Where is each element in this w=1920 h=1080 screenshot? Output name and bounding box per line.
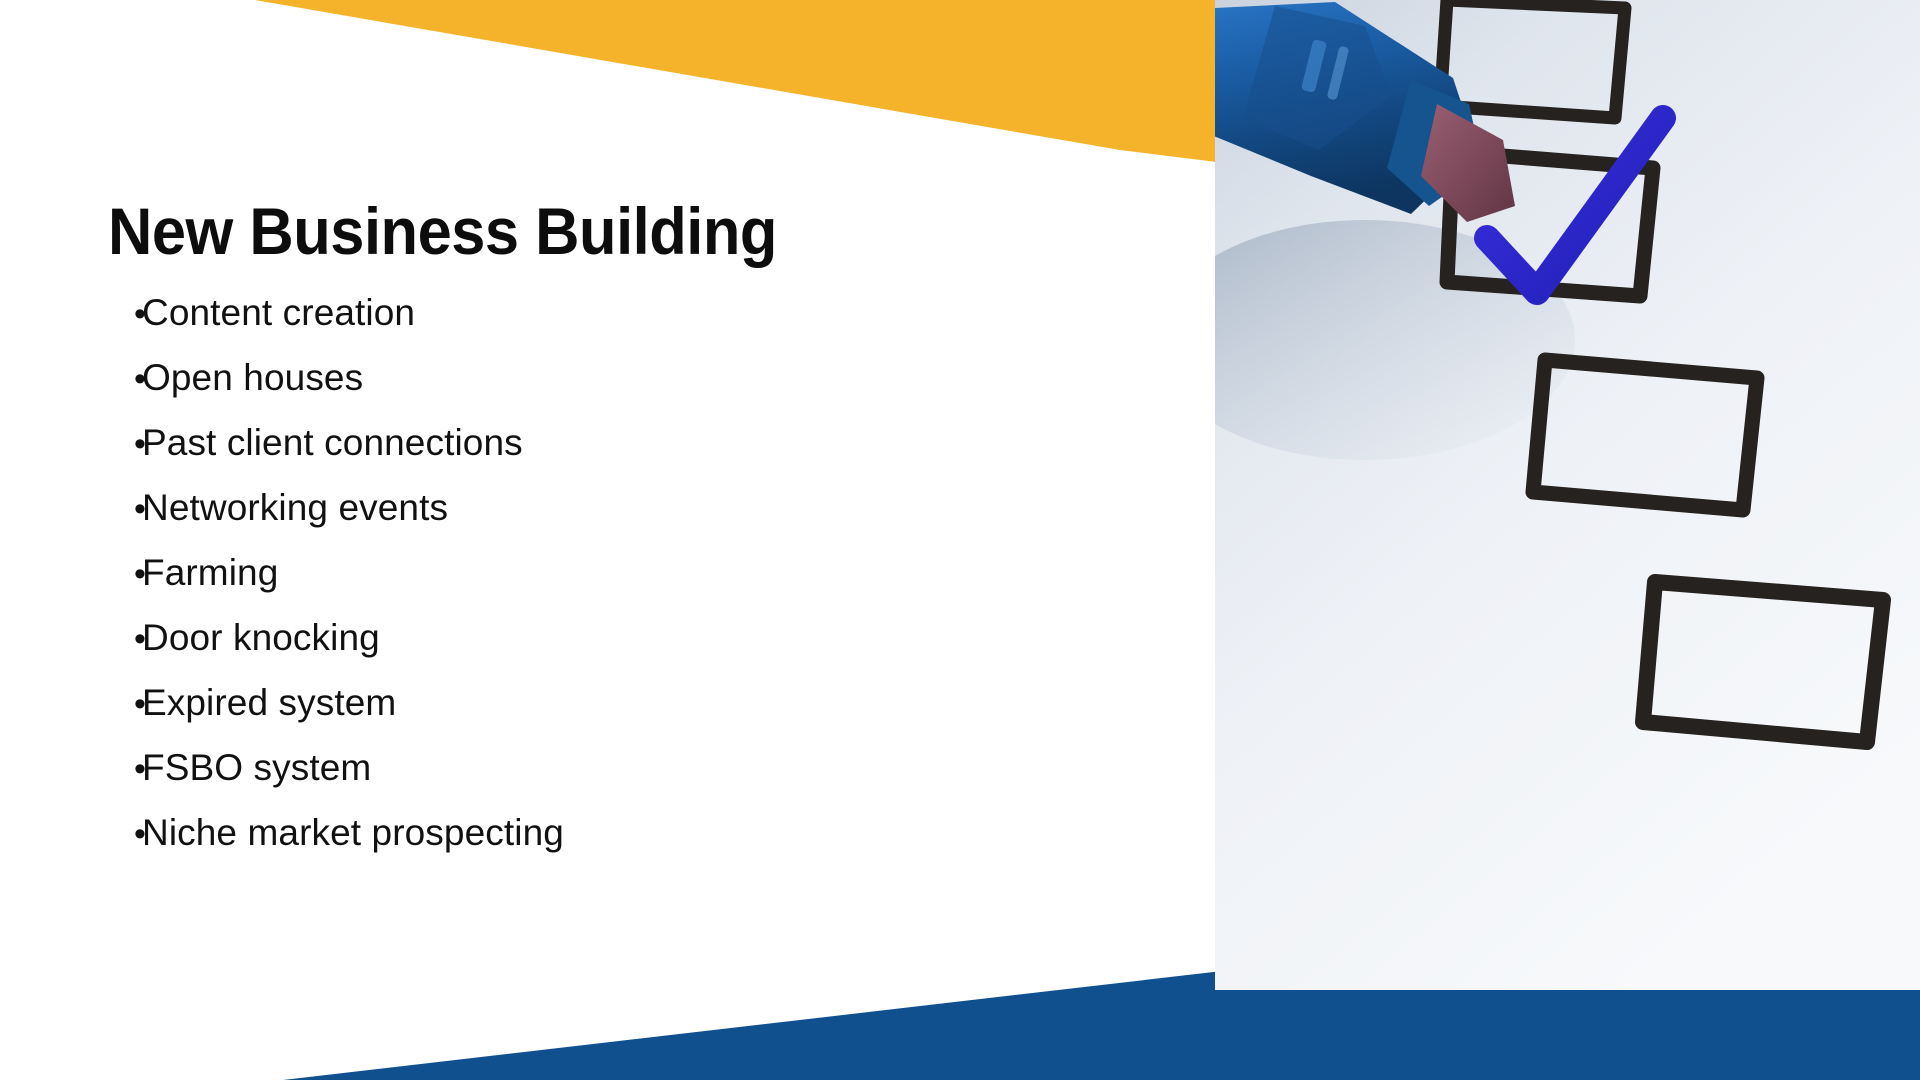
bullet-point-icon: •: [108, 612, 142, 667]
bullet-point-icon: •: [108, 742, 142, 797]
list-item: • Expired system: [108, 675, 1168, 730]
list-item-label: FSBO system: [142, 740, 371, 795]
list-item: • Past client connections: [108, 415, 1168, 470]
bullet-point-icon: •: [108, 807, 142, 862]
bullet-point-icon: •: [108, 547, 142, 602]
list-item-label: Open houses: [142, 350, 363, 405]
checklist-photo-image: [1215, 0, 1920, 990]
list-item-label: Niche market prospecting: [142, 805, 564, 860]
list-item: • Open houses: [108, 350, 1168, 405]
bullet-point-icon: •: [108, 352, 142, 407]
presentation-slide: New Business Building • Content creation…: [0, 0, 1920, 1080]
list-item-label: Door knocking: [142, 610, 380, 665]
slide-content: New Business Building • Content creation…: [108, 196, 1168, 870]
list-item: • Door knocking: [108, 610, 1168, 665]
list-item: • Networking events: [108, 480, 1168, 535]
bullet-point-icon: •: [108, 482, 142, 537]
list-item-label: Farming: [142, 545, 278, 600]
bullet-point-icon: •: [108, 287, 142, 342]
list-item: • Farming: [108, 545, 1168, 600]
list-item: • Content creation: [108, 285, 1168, 340]
list-item: • Niche market prospecting: [108, 805, 1168, 860]
list-item: • FSBO system: [108, 740, 1168, 795]
list-item-label: Past client connections: [142, 415, 523, 470]
list-item-label: Content creation: [142, 285, 415, 340]
bullet-point-icon: •: [108, 417, 142, 472]
checklist-photo: [1215, 0, 1920, 990]
list-item-label: Expired system: [142, 675, 396, 730]
page-title: New Business Building: [108, 196, 1094, 267]
bullet-point-icon: •: [108, 677, 142, 732]
list-item-label: Networking events: [142, 480, 448, 535]
bullet-list: • Content creation • Open houses • Past …: [108, 285, 1168, 860]
